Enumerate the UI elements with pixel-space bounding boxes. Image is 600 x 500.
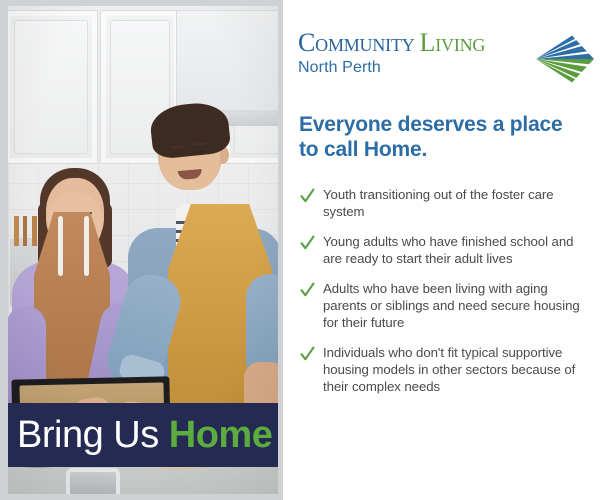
logo-word-community: Community (298, 28, 415, 57)
poster-root: Bring Us Home CommunityLiving North Pert… (0, 0, 600, 500)
photo-panel: Bring Us Home (0, 0, 283, 500)
list-item: Young adults who have finished school an… (300, 233, 582, 267)
benefits-list: Youth transitioning out of the foster ca… (300, 186, 582, 395)
list-item-label: Adults who have been living with aging p… (323, 280, 582, 331)
logo-wordmark: CommunityLiving North Perth (298, 29, 530, 78)
list-item: Individuals who don't fit typical suppor… (300, 344, 582, 395)
logo-subtitle: North Perth (298, 58, 530, 78)
organization-logo: CommunityLiving North Perth (298, 26, 588, 94)
cabinet-door-left (8, 10, 98, 164)
bring-us-home-banner: Bring Us Home (8, 403, 278, 467)
person-girl-apron-strap-left (58, 216, 63, 276)
person-girl-apron-strap-right (84, 216, 89, 276)
banner-text-green: Home (169, 414, 273, 456)
headline: Everyone deserves a place to call Home. (299, 112, 574, 162)
check-icon (300, 346, 315, 363)
person-boy-eye-right (196, 150, 203, 154)
check-icon (300, 282, 315, 299)
banner-text-white: Bring Us (17, 414, 159, 456)
content-panel: CommunityLiving North Perth (283, 0, 600, 500)
logo-title-line: CommunityLiving (298, 29, 530, 57)
banner-text-group: Bring Us Home (8, 416, 272, 454)
check-icon (300, 235, 315, 252)
list-item: Youth transitioning out of the foster ca… (300, 186, 582, 220)
list-item-label: Individuals who don't fit typical suppor… (323, 344, 582, 395)
list-item: Adults who have been living with aging p… (300, 280, 582, 331)
check-icon (300, 188, 315, 205)
cookie-cutter (66, 468, 120, 494)
logo-word-living: Living (420, 28, 486, 57)
person-boy-eye-left (173, 153, 180, 157)
diamond-sunburst-logo-mark-icon (534, 26, 596, 92)
list-item-label: Young adults who have finished school an… (323, 233, 582, 267)
list-item-label: Youth transitioning out of the foster ca… (323, 186, 582, 220)
